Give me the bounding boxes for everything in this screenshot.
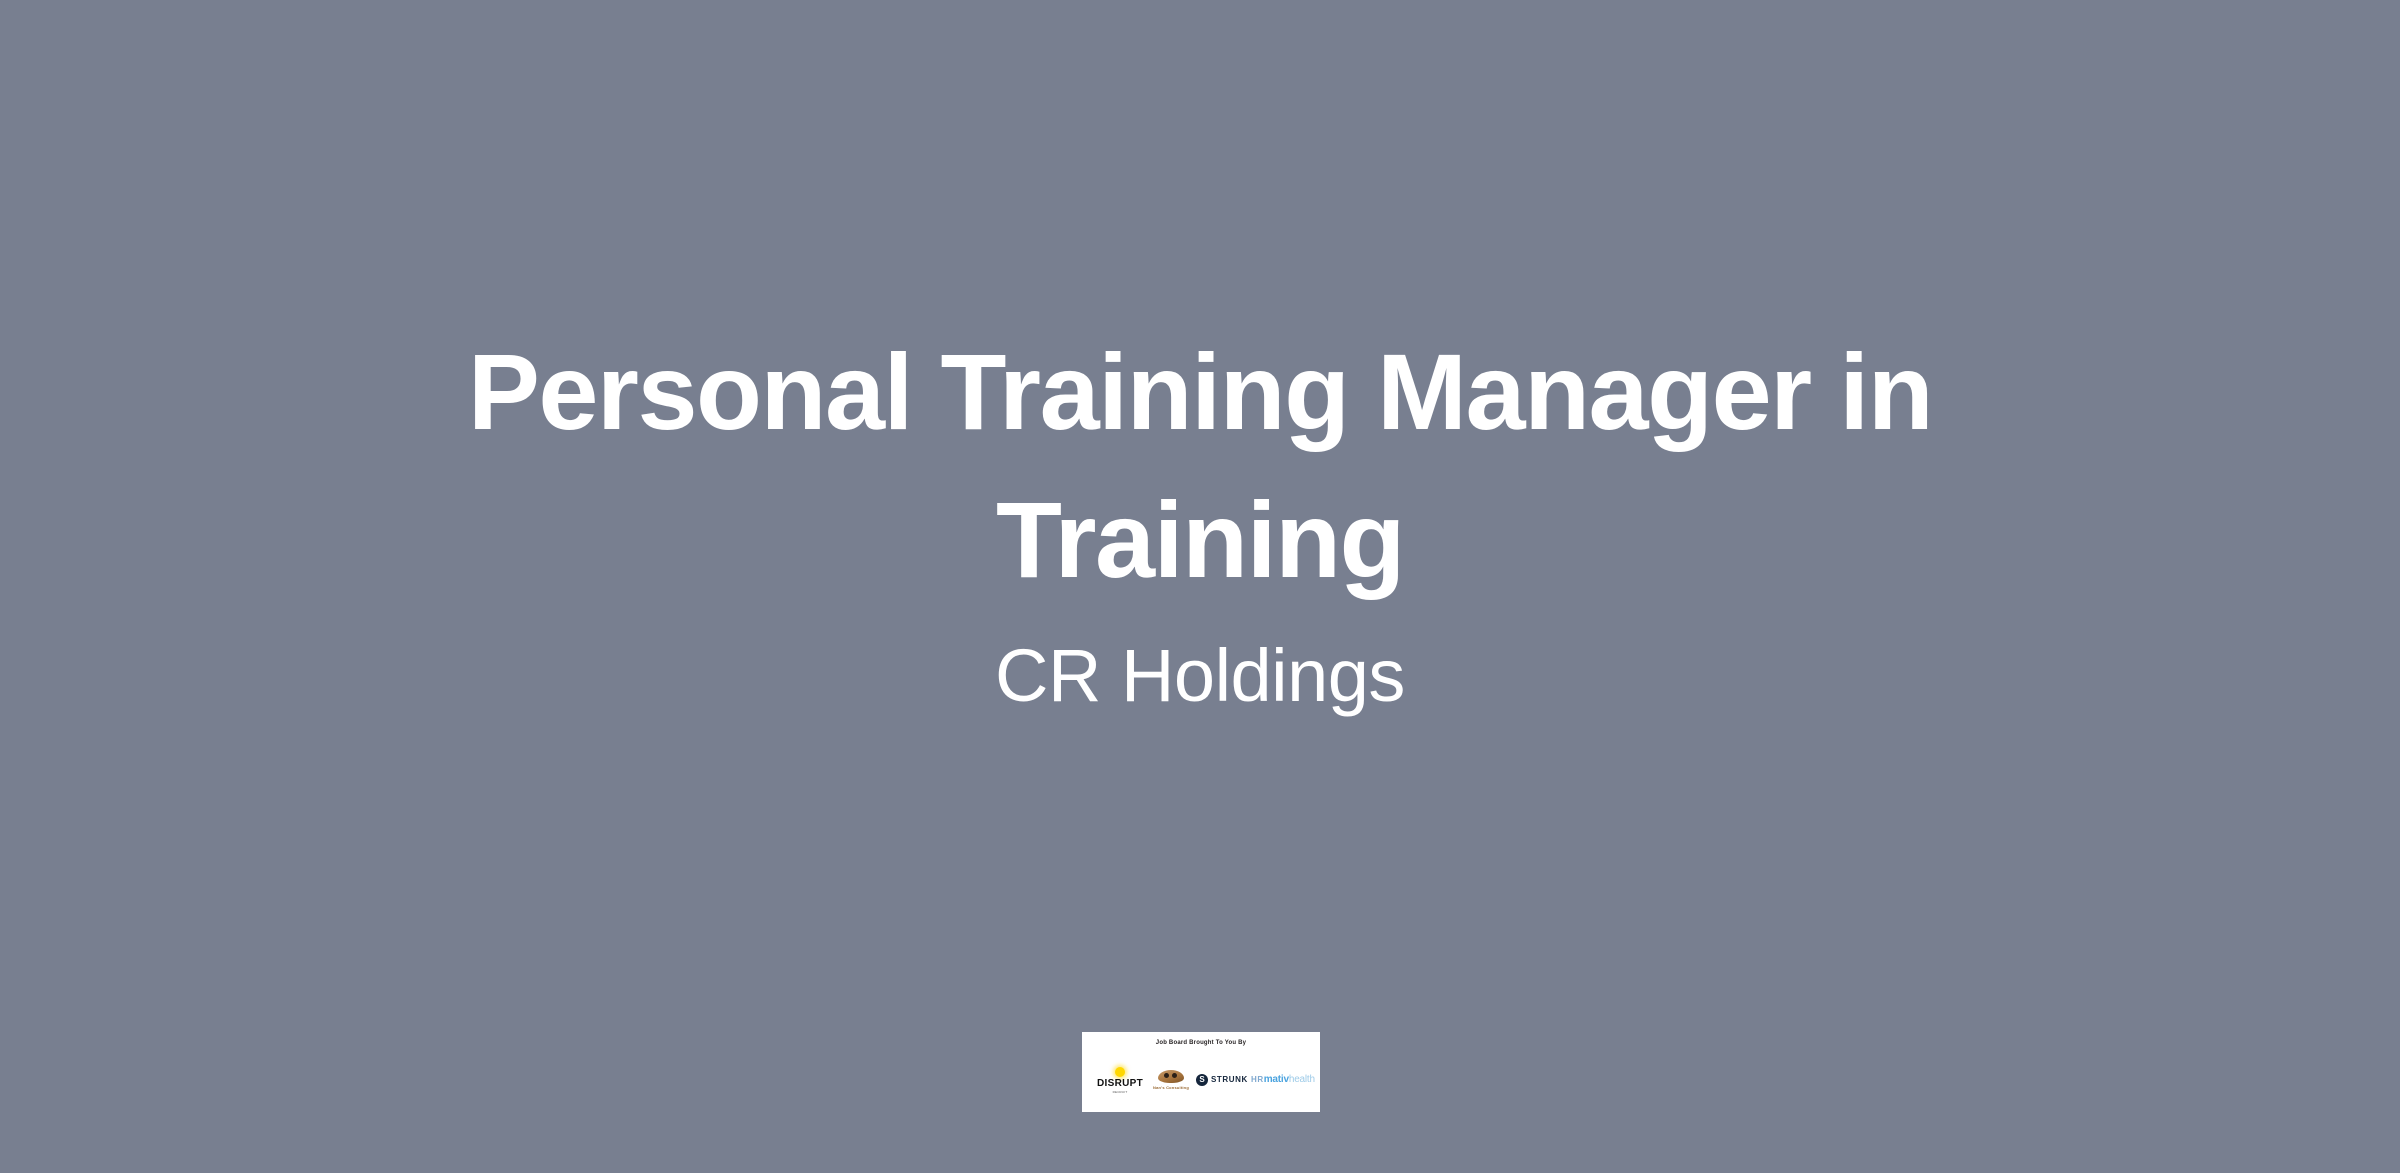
nans-wordmark: Nan's Consulting — [1153, 1085, 1189, 1091]
sunburst-icon — [1115, 1067, 1125, 1077]
strunk-s-badge-icon: S — [1196, 1074, 1208, 1086]
disrupt-subtext: RECRUIT — [1113, 1090, 1128, 1094]
sponsor-logo-disrupt[interactable]: DISRUPT RECRUIT — [1094, 1061, 1146, 1099]
strunk-hr-suffix: HR — [1251, 1075, 1264, 1085]
sponsor-banner: Job Board Brought To You By DISRUPT RECR… — [1082, 1032, 1320, 1112]
disrupt-wordmark: DISRUPT — [1097, 1078, 1143, 1089]
page-title: Personal Training Manager in Training — [380, 318, 2020, 614]
company-name: CR Holdings — [380, 614, 2020, 728]
strunk-wordmark: STRUNK — [1211, 1075, 1248, 1085]
mativ-wordmark-secondary: health — [1289, 1074, 1315, 1086]
sponsor-banner-heading: Job Board Brought To You By — [1156, 1039, 1246, 1047]
sponsor-logo-row: DISRUPT RECRUIT Nan's Consulting S STRUN… — [1094, 1061, 1308, 1099]
nans-emblem-icon — [1158, 1070, 1184, 1083]
hero-section: Personal Training Manager in Training CR… — [0, 0, 2400, 1000]
mativ-wordmark-primary: mativ — [1264, 1074, 1289, 1086]
sponsor-logo-strunk-hr[interactable]: S STRUNK HR — [1196, 1061, 1264, 1099]
job-posting-slide: Personal Training Manager in Training CR… — [0, 0, 2400, 1173]
sponsor-logo-mativ-health[interactable]: mativ health — [1264, 1061, 1315, 1099]
sponsor-logo-nans-consulting[interactable]: Nan's Consulting — [1146, 1061, 1196, 1099]
